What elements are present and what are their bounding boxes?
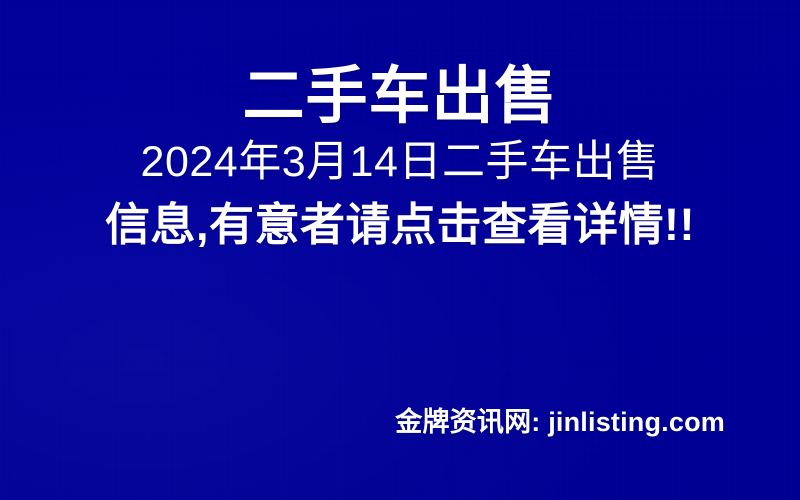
site-attribution: 金牌资讯网: jinlisting.com — [0, 400, 725, 439]
announcement-line-1: 2024年3月14日二手车出售 — [0, 131, 800, 193]
poster-canvas: 二手车出售 2024年3月14日二手车出售 信息,有意者请点击查看详情!! 金牌… — [0, 0, 800, 500]
page-title: 二手车出售 — [0, 64, 800, 129]
announcement-line-2: 信息,有意者请点击查看详情!! — [0, 193, 800, 257]
announcement-body: 2024年3月14日二手车出售 信息,有意者请点击查看详情!! — [0, 131, 800, 257]
